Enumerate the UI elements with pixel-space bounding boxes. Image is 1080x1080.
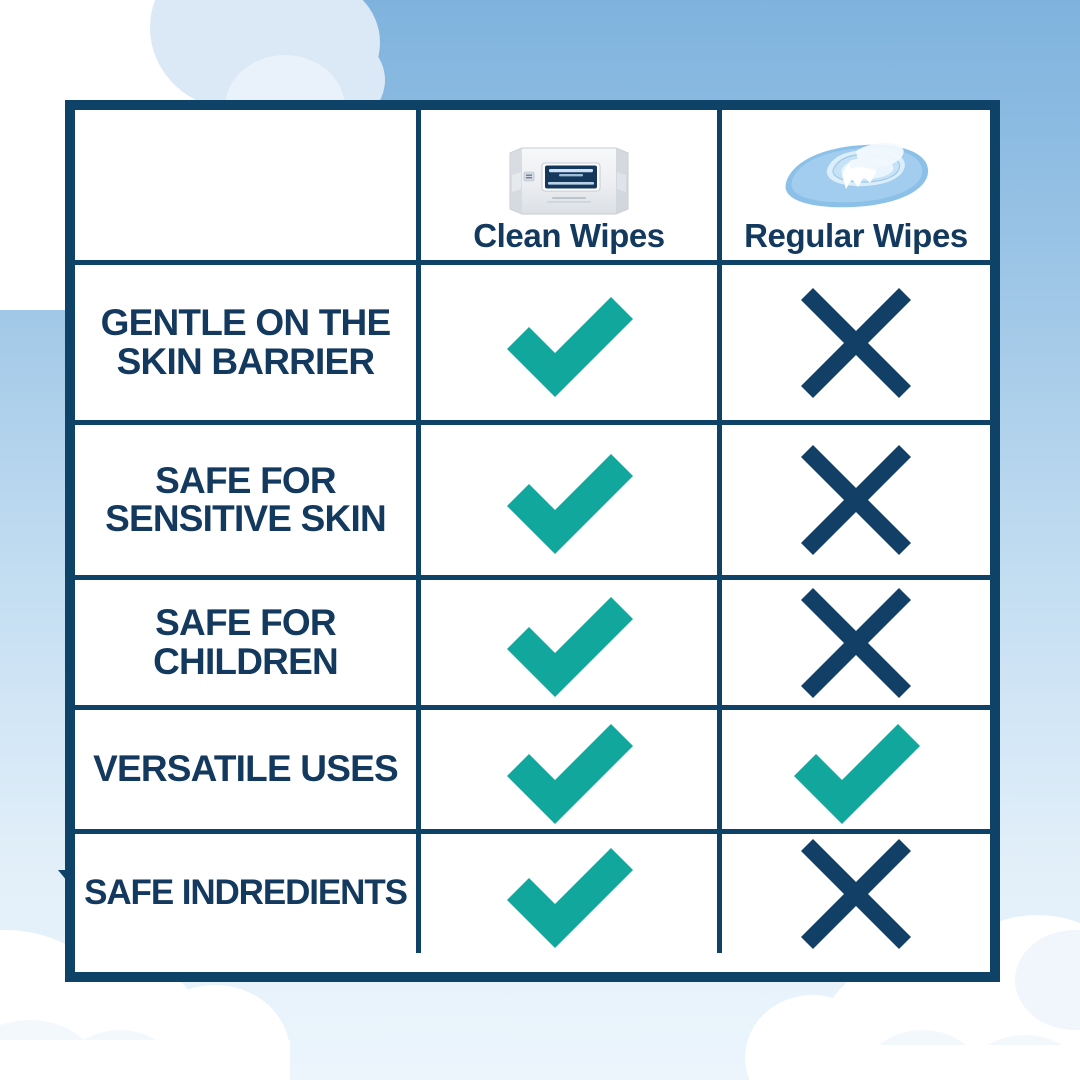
cell-clean-wipes xyxy=(416,425,717,575)
check-icon xyxy=(499,838,639,950)
row-label-text: GENTLE ON THE SKIN BARRIER xyxy=(75,304,416,381)
cell-regular-wipes xyxy=(717,710,990,829)
header-cell-regular-wipes: Regular Wipes xyxy=(717,110,990,260)
table-header-row: Clean Wipes Regular Wipes xyxy=(75,110,990,260)
table-row: VERSATILE USES xyxy=(75,705,990,829)
cell-clean-wipes xyxy=(416,710,717,829)
table-row: SAFE FOR CHILDREN xyxy=(75,575,990,705)
check-icon xyxy=(499,287,639,399)
row-label-cell: SAFE FOR SENSITIVE SKIN xyxy=(75,425,416,575)
header-title-regular-wipes: Regular Wipes xyxy=(744,219,968,252)
header-title-clean-wipes: Clean Wipes xyxy=(473,219,665,252)
cell-regular-wipes xyxy=(717,580,990,705)
row-label-text: VERSATILE USES xyxy=(87,750,404,788)
row-label-cell: GENTLE ON THE SKIN BARRIER xyxy=(75,265,416,420)
cross-icon xyxy=(797,835,915,953)
check-icon xyxy=(499,714,639,826)
check-icon xyxy=(499,587,639,699)
row-label-text: SAFE FOR SENSITIVE SKIN xyxy=(75,462,416,539)
row-label-cell: SAFE FOR CHILDREN xyxy=(75,580,416,705)
table-row: SAFE INDREDIENTS xyxy=(75,829,990,953)
cell-regular-wipes xyxy=(717,834,990,953)
cell-clean-wipes xyxy=(416,580,717,705)
cell-regular-wipes xyxy=(717,265,990,420)
cell-regular-wipes xyxy=(717,425,990,575)
cross-icon xyxy=(797,441,915,559)
cloud-base xyxy=(760,1045,1080,1080)
check-icon xyxy=(499,444,639,556)
cell-clean-wipes xyxy=(416,834,717,953)
table-row: SAFE FOR SENSITIVE SKIN xyxy=(75,420,990,575)
regular-wipes-pack-icon xyxy=(772,131,940,217)
header-cell-empty xyxy=(75,110,416,260)
cross-icon xyxy=(797,584,915,702)
clean-wipes-pack-icon xyxy=(504,145,634,217)
row-label-cell: VERSATILE USES xyxy=(75,710,416,829)
comparison-table-wrapper: Clean Wipes Regular Wipes xyxy=(65,100,1000,982)
cloud-base xyxy=(0,1040,290,1080)
cross-icon xyxy=(797,284,915,402)
table-row: GENTLE ON THE SKIN BARRIER xyxy=(75,260,990,420)
row-label-cell: SAFE INDREDIENTS xyxy=(75,834,416,953)
cell-clean-wipes xyxy=(416,265,717,420)
row-label-text: SAFE INDREDIENTS xyxy=(78,875,413,911)
header-cell-clean-wipes: Clean Wipes xyxy=(416,110,717,260)
row-label-text: SAFE FOR CHILDREN xyxy=(75,604,416,681)
comparison-table: Clean Wipes Regular Wipes xyxy=(65,100,1000,982)
check-icon xyxy=(786,714,926,826)
